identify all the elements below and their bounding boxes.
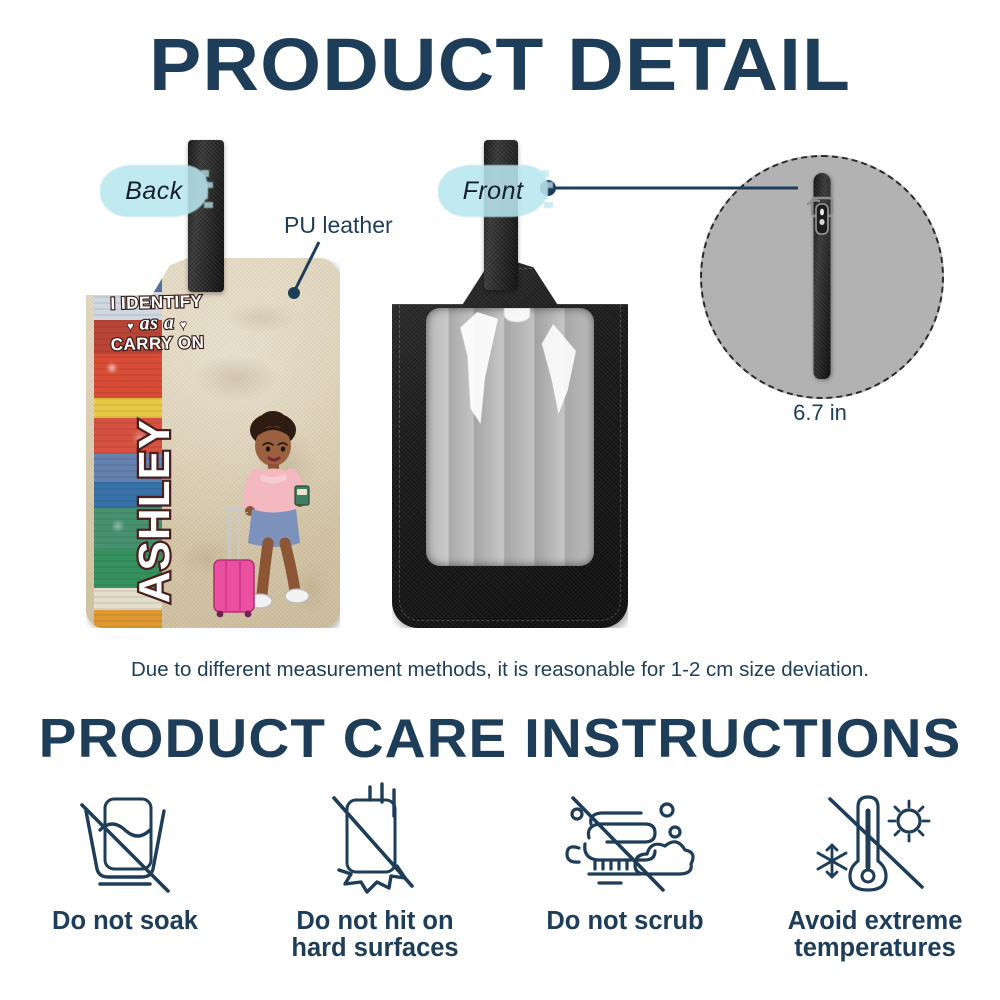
care-item: Do not soak bbox=[0, 782, 250, 962]
callout-pu-leather: PU leather bbox=[284, 212, 393, 239]
no-scrub-icon bbox=[555, 782, 695, 900]
window-glare bbox=[504, 308, 530, 322]
care-item: Do not scrub bbox=[500, 782, 750, 962]
no-impact-icon bbox=[314, 782, 436, 900]
tag-back-body: I IDENTIFY ♥ as a ♥ CARRY ON ASHLEY bbox=[86, 258, 340, 628]
character-illustration bbox=[206, 408, 336, 628]
care-item: Do not hit on hard surfaces bbox=[250, 782, 500, 962]
badge-line-1: I IDENTIFY bbox=[97, 292, 215, 312]
care-instructions-row: Do not soak Do not hit on hard surfaces bbox=[0, 782, 1000, 962]
page-title-product-detail: PRODUCT DETAIL bbox=[0, 22, 1000, 107]
identify-badge: I IDENTIFY ♥ as a ♥ CARRY ON bbox=[97, 292, 216, 353]
front-inset-connector-line bbox=[540, 178, 800, 198]
size-deviation-disclaimer: Due to different measurement methods, it… bbox=[0, 658, 1000, 682]
badge-line-2-text: as a bbox=[139, 312, 174, 335]
buckle-icon bbox=[805, 195, 839, 241]
care-item-caption: Do not soak bbox=[52, 908, 198, 935]
pu-leather-leader-line bbox=[283, 240, 323, 302]
heart-icon: ♥ bbox=[127, 321, 134, 333]
personalized-name: ASHLEY bbox=[130, 406, 180, 616]
care-item-caption: Avoid extreme temperatures bbox=[788, 908, 963, 962]
label-chip-back-text: Back bbox=[125, 177, 183, 206]
no-soak-icon bbox=[64, 782, 186, 900]
no-extreme-temp-icon bbox=[810, 782, 940, 900]
badge-line-2: ♥ as a ♥ bbox=[98, 311, 216, 334]
page-title-care-instructions: PRODUCT CARE INSTRUCTIONS bbox=[0, 706, 1000, 770]
care-item-caption: Do not scrub bbox=[546, 908, 703, 935]
strap-length-label: 6.7 in bbox=[700, 400, 940, 426]
window-glare bbox=[538, 324, 576, 414]
id-card-window bbox=[426, 308, 594, 566]
care-item: Avoid extreme temperatures bbox=[750, 782, 1000, 962]
label-chip-back: Back bbox=[100, 165, 208, 217]
badge-line-3: CARRY ON bbox=[98, 333, 216, 353]
label-chip-front-text: Front bbox=[463, 177, 524, 206]
tag-front-body bbox=[392, 260, 628, 628]
label-chip-front: Front bbox=[438, 165, 548, 217]
heart-icon: ♥ bbox=[180, 319, 187, 331]
window-glare bbox=[452, 312, 498, 424]
care-item-caption: Do not hit on hard surfaces bbox=[291, 908, 458, 962]
